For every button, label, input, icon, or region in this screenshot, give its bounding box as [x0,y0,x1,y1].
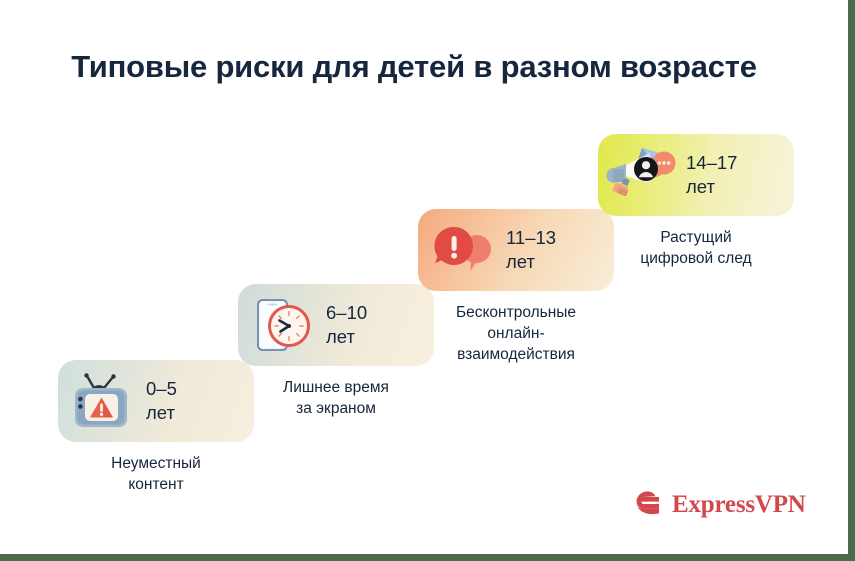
risk-caption: Неуместный контент [58,453,254,495]
phone-clock-icon [238,289,324,361]
risk-staircase: 0–5 лет Неуместный контент [0,0,855,561]
risk-step-6-10: 6–10 лет Лишнее время за экраном [238,284,434,419]
speech-bubble-exclamation-icon [418,214,504,286]
risk-step-14-17: 14–17 лет Растущий цифровой след [598,134,794,269]
megaphone-social-icon [598,139,684,211]
risk-age-label: 6–10 лет [324,301,367,350]
risk-caption: Лишнее время за экраном [238,377,434,419]
risk-caption: Растущий цифровой след [598,227,794,269]
risk-step-11-13: 11–13 лет Бесконтрольные онлайн- взаимод… [418,209,614,365]
expressvpn-wordmark: ExpressVPN [672,491,806,519]
expressvpn-logo: ExpressVPN [633,487,806,523]
risk-age-label: 14–17 лет [684,151,737,200]
risk-caption: Бесконтрольные онлайн- взаимодействия [418,302,614,365]
risk-card-6-10: 6–10 лет [238,284,434,366]
risk-age-label: 0–5 лет [144,377,177,426]
television-warning-icon [58,365,144,437]
risk-card-0-5: 0–5 лет [58,360,254,442]
risk-card-14-17: 14–17 лет [598,134,794,216]
expressvpn-e-mark-icon [633,487,663,523]
risk-card-11-13: 11–13 лет [418,209,614,291]
risk-age-label: 11–13 лет [504,226,556,275]
risk-step-0-5: 0–5 лет Неуместный контент [58,360,254,495]
